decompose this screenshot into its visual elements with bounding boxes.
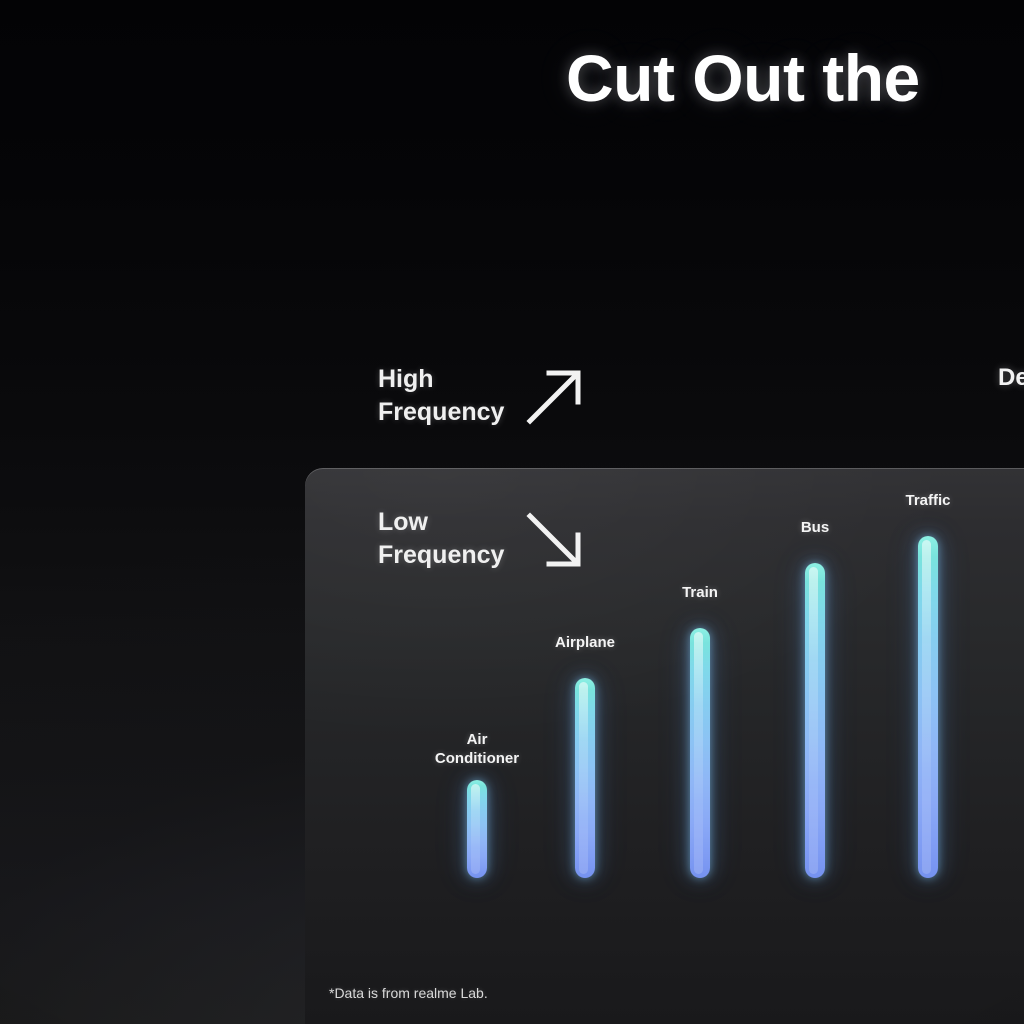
low-frequency-annotation: Low Frequency	[378, 506, 588, 572]
footnote: *Data is from realme Lab.	[329, 985, 488, 1001]
slide-canvas: Cut Out the De High Frequency Low Freque…	[0, 0, 1024, 1024]
page-title: Cut Out the	[566, 40, 920, 116]
arrow-up-right-icon	[522, 363, 588, 429]
high-frequency-label: High Frequency	[378, 363, 504, 429]
arrow-down-right-icon	[522, 506, 588, 572]
low-frequency-label: Low Frequency	[378, 506, 504, 572]
side-label-partial: De	[998, 364, 1024, 392]
high-frequency-annotation: High Frequency	[378, 363, 588, 429]
